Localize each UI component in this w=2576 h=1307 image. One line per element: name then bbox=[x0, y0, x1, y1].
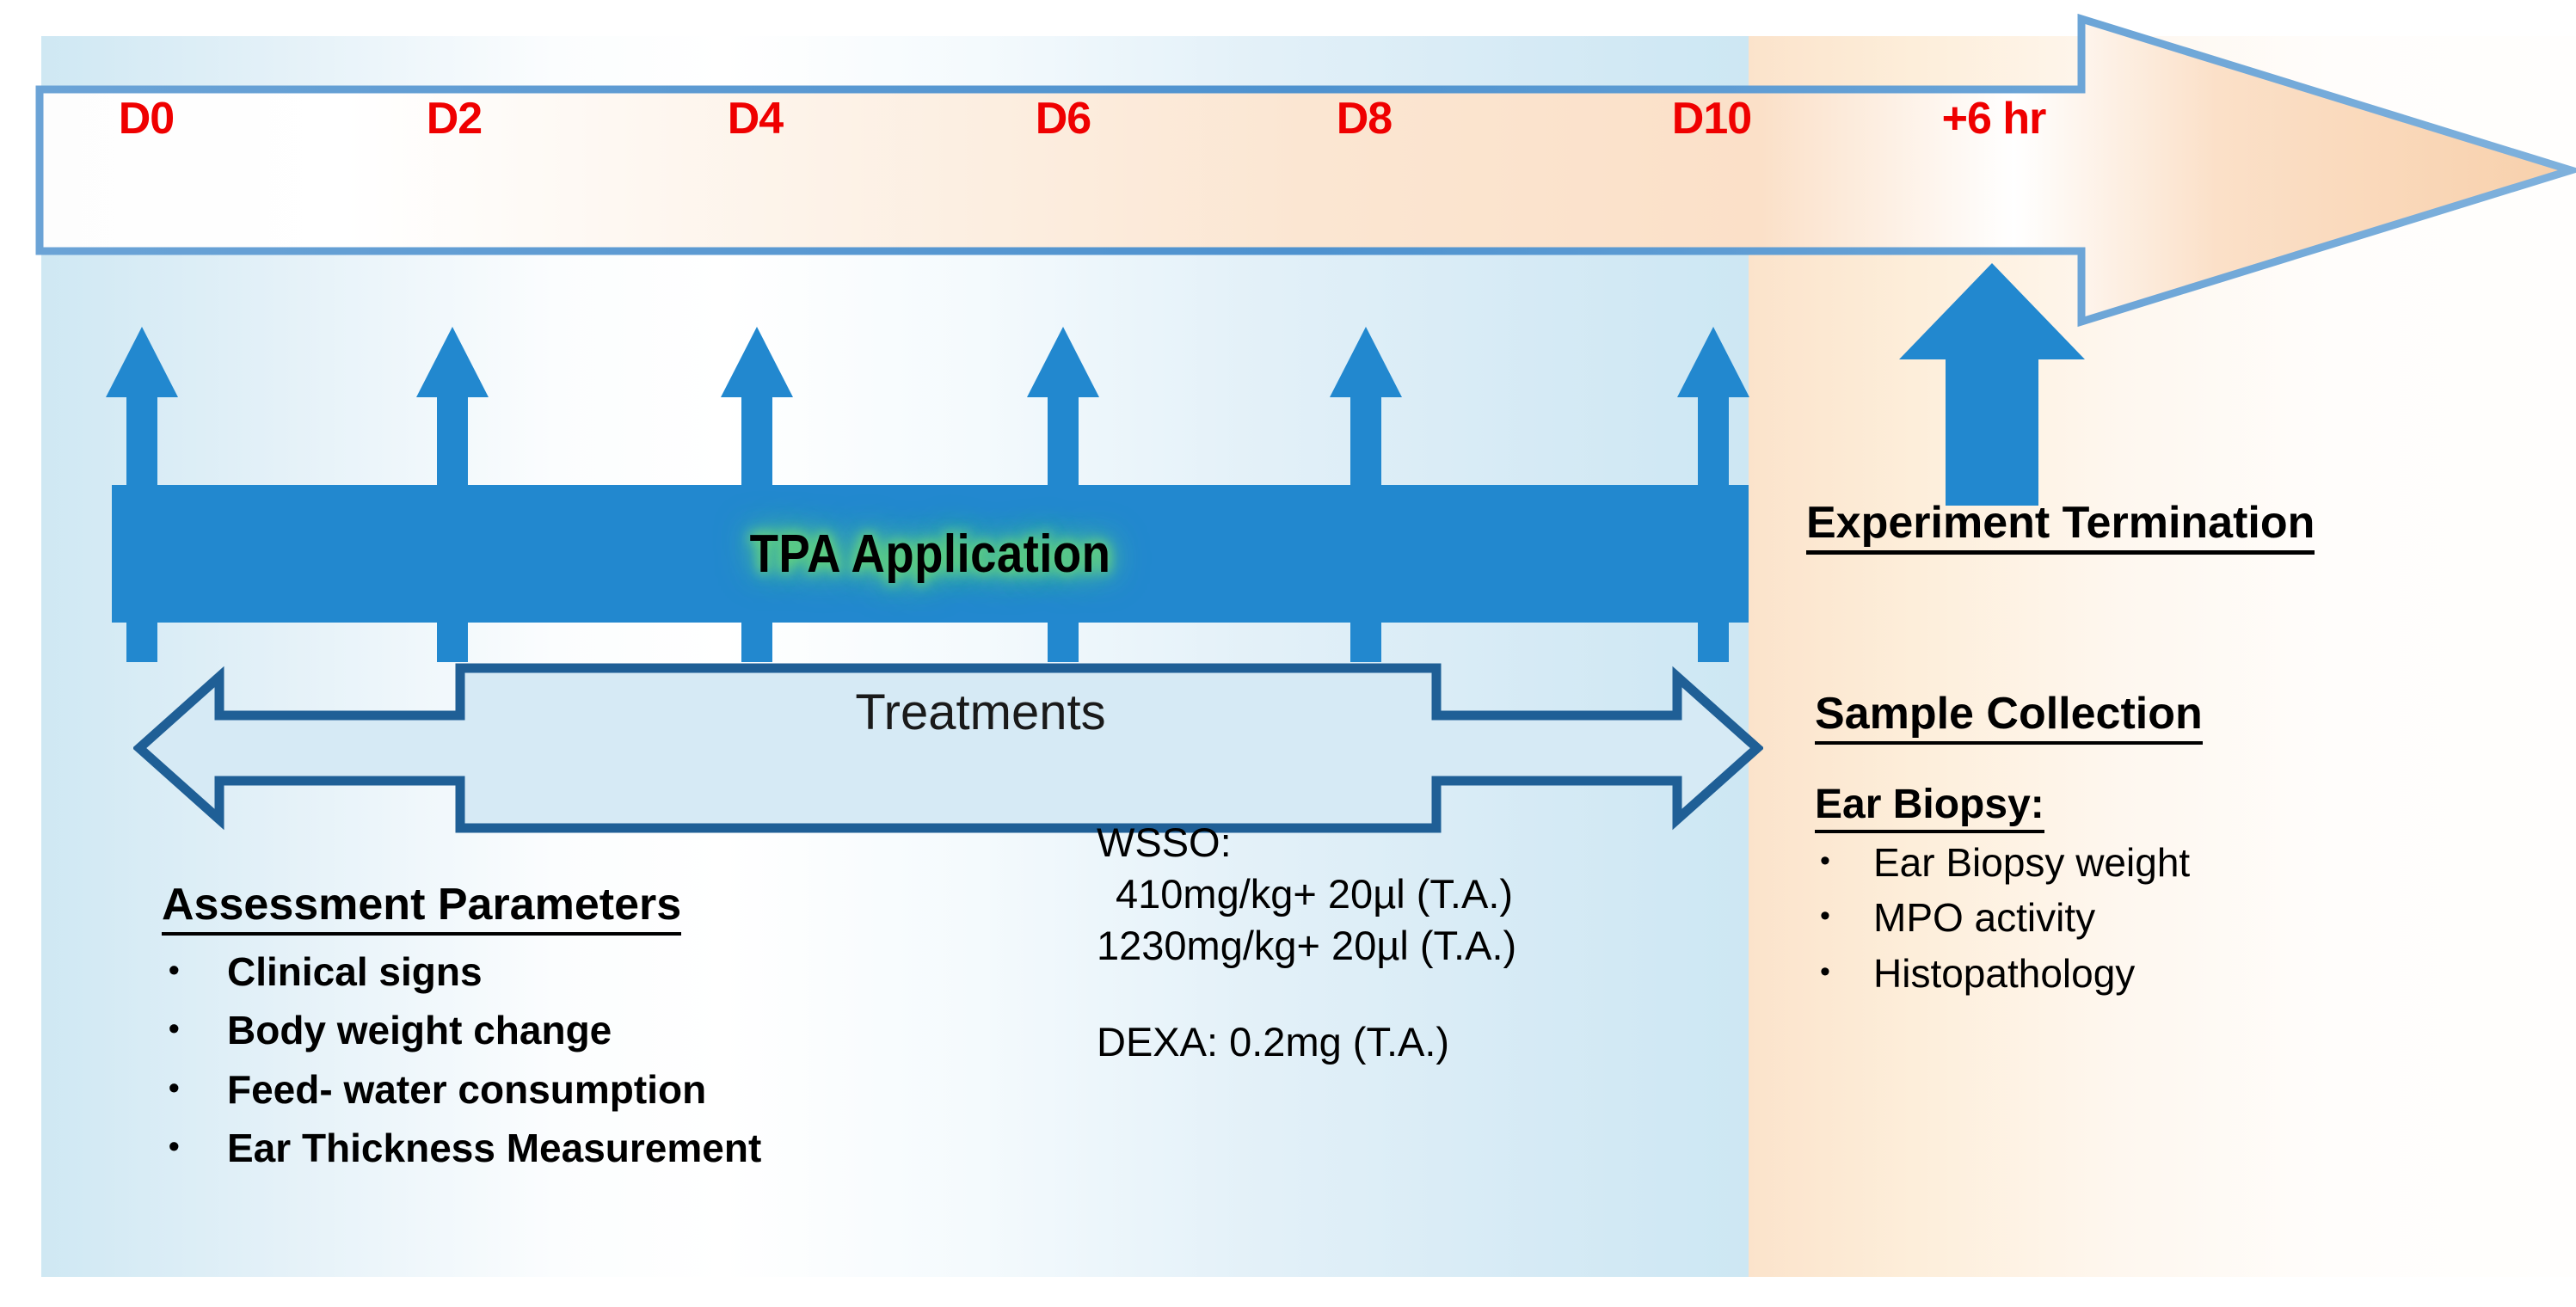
list-item: • Ear Thickness Measurement bbox=[162, 1127, 1073, 1169]
sample-item-label: MPO activity bbox=[1873, 897, 2095, 938]
dosing-spacer bbox=[1097, 972, 1750, 1016]
assessment-item-label: Body weight change bbox=[227, 1009, 612, 1051]
assessment-item-label: Feed- water consumption bbox=[227, 1069, 706, 1110]
sample-collection-title: Sample Collection bbox=[1815, 688, 2203, 745]
wsso-dose-high: 1230mg/kg+ 20µl (T.A.) bbox=[1097, 920, 1750, 972]
day-label-d6: D6 bbox=[1036, 93, 1091, 144]
list-item: • Ear Biopsy weight bbox=[1815, 842, 2546, 883]
list-item: • MPO activity bbox=[1815, 897, 2546, 938]
assessment-parameters-list: • Clinical signs • Body weight change • … bbox=[162, 951, 1073, 1169]
wsso-dose-low: 410mg/kg+ 20µl (T.A.) bbox=[1097, 868, 1750, 920]
experiment-termination-arrow bbox=[1899, 263, 2085, 506]
ear-biopsy-subtitle: Ear Biopsy: bbox=[1815, 781, 2044, 833]
bullet-icon: • bbox=[1815, 842, 1873, 880]
day-label-d2: D2 bbox=[427, 93, 482, 144]
bullet-icon: • bbox=[1815, 897, 1873, 935]
day-label-d4: D4 bbox=[728, 93, 783, 144]
sample-collection-block: Sample Collection Ear Biopsy: • Ear Biop… bbox=[1815, 688, 2546, 1008]
sample-item-label: Histopathology bbox=[1873, 953, 2135, 994]
experiment-termination-label: Experiment Termination bbox=[1806, 497, 2315, 555]
tpa-application-label: TPA Application bbox=[210, 485, 1651, 623]
day-label-d10: D10 bbox=[1672, 93, 1751, 144]
bullet-icon: • bbox=[162, 1009, 227, 1046]
ear-biopsy-subtitle-wrap: Ear Biopsy: bbox=[1815, 781, 2546, 833]
bullet-icon: • bbox=[162, 1069, 227, 1106]
day-label-d0: D0 bbox=[119, 93, 174, 144]
tpa-application-bar: TPA Application bbox=[112, 485, 1749, 623]
timeline-block-arrow bbox=[34, 14, 2576, 328]
bullet-icon: • bbox=[162, 1127, 227, 1164]
bullet-icon: • bbox=[1815, 953, 1873, 991]
list-item: • Body weight change bbox=[162, 1009, 1073, 1051]
list-item: • Clinical signs bbox=[162, 951, 1073, 992]
assessment-item-label: Ear Thickness Measurement bbox=[227, 1127, 761, 1169]
treatments-label: Treatments bbox=[568, 684, 1393, 741]
wsso-title: WSSO: bbox=[1097, 817, 1750, 868]
day-label-plus-6-hr: +6 hr bbox=[1942, 93, 2046, 144]
sample-collection-list: • Ear Biopsy weight • MPO activity • His… bbox=[1815, 842, 2546, 994]
bullet-icon: • bbox=[162, 951, 227, 988]
assessment-parameters-block: Assessment Parameters • Clinical signs •… bbox=[162, 879, 1073, 1186]
sample-item-label: Ear Biopsy weight bbox=[1873, 842, 2190, 883]
assessment-item-label: Clinical signs bbox=[227, 951, 483, 992]
list-item: • Histopathology bbox=[1815, 953, 2546, 994]
dexa-dose: DEXA: 0.2mg (T.A.) bbox=[1097, 1016, 1750, 1068]
assessment-parameters-title: Assessment Parameters bbox=[162, 879, 681, 936]
list-item: • Feed- water consumption bbox=[162, 1069, 1073, 1110]
day-label-d8: D8 bbox=[1337, 93, 1392, 144]
dosing-block: WSSO: 410mg/kg+ 20µl (T.A.) 1230mg/kg+ 2… bbox=[1097, 817, 1750, 1069]
